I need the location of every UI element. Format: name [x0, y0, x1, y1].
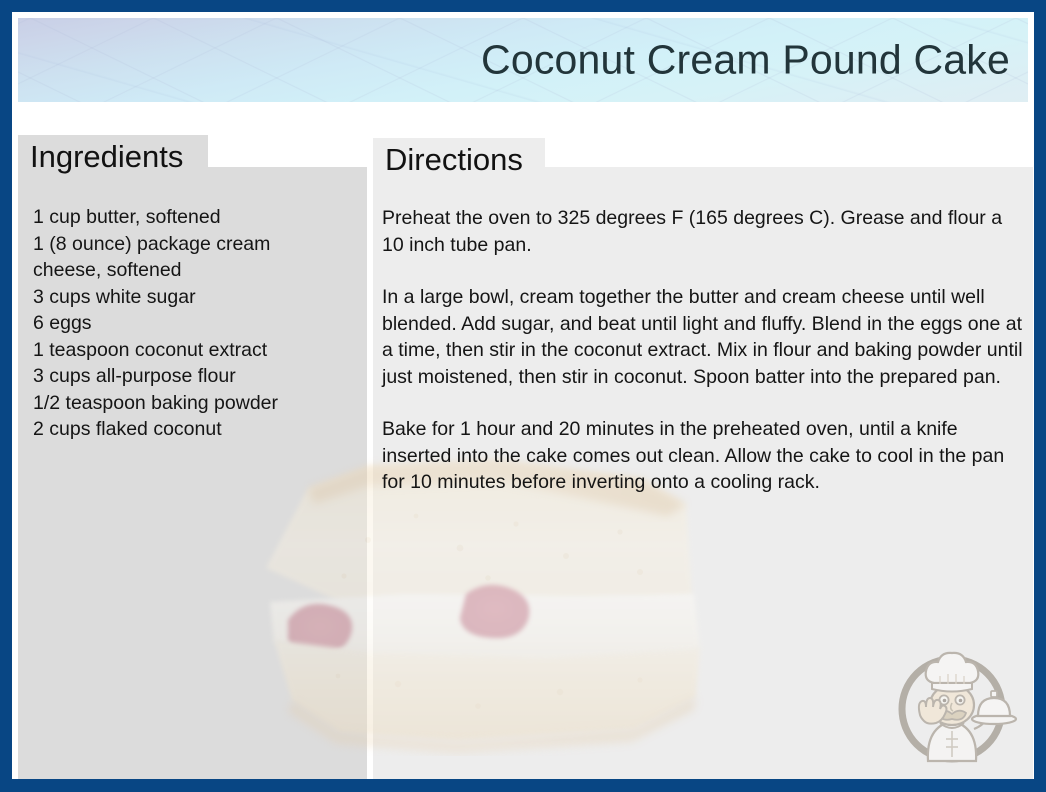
tab-directions[interactable]: Directions [373, 138, 545, 182]
list-item: 1 cup butter, softened [33, 204, 343, 231]
recipe-card: Coconut Cream Pound Cake [0, 0, 1046, 792]
tab-ingredients-label: Ingredients [30, 139, 183, 175]
tab-directions-label: Directions [385, 142, 523, 178]
list-item: 6 eggs [33, 310, 343, 337]
list-item: 3 cups white sugar [33, 284, 343, 311]
direction-step: In a large bowl, cream together the butt… [382, 284, 1027, 390]
tab-ingredients[interactable]: Ingredients [18, 135, 208, 179]
list-item: 1 teaspoon coconut extract [33, 337, 343, 364]
header-banner: Coconut Cream Pound Cake [18, 18, 1028, 102]
ingredients-list: 1 cup butter, softened 1 (8 ounce) packa… [33, 204, 343, 443]
direction-step: Preheat the oven to 325 degrees F (165 d… [382, 205, 1027, 258]
directions-text: Preheat the oven to 325 degrees F (165 d… [382, 205, 1027, 496]
list-item: 3 cups all-purpose flour [33, 363, 343, 390]
list-item: 1/2 teaspoon baking powder [33, 390, 343, 417]
direction-step: Bake for 1 hour and 20 minutes in the pr… [382, 416, 1027, 496]
list-item: 1 (8 ounce) package cream cheese, soften… [33, 231, 343, 284]
list-item: 2 cups flaked coconut [33, 416, 343, 443]
recipe-title: Coconut Cream Pound Cake [481, 40, 1010, 81]
